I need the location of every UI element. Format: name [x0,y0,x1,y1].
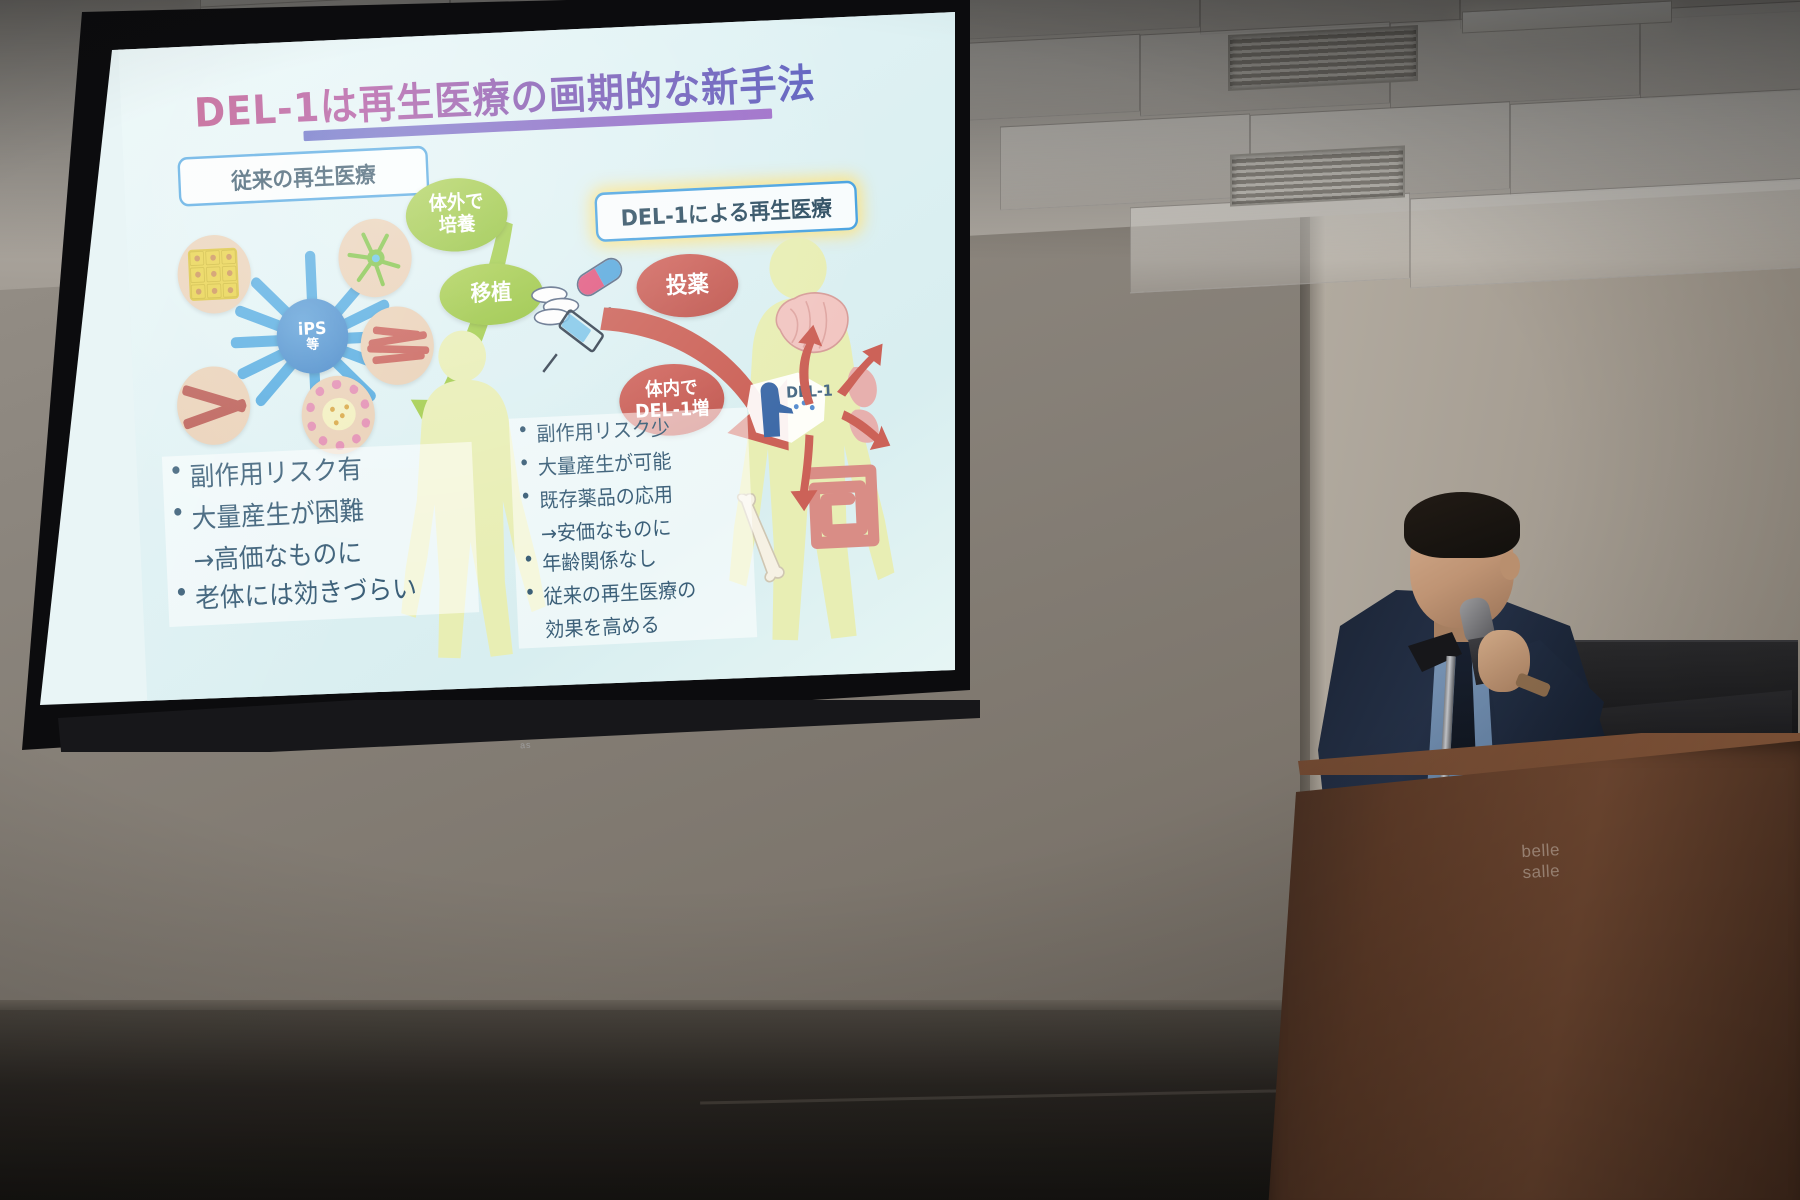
conference-room-photo: DEL-1は再生医療の画期的な新手法 従来の再生医療 DEL-1による再生医療 [0,0,1800,1200]
bullet-marker: • [515,547,543,572]
epithelial-cells-icon [176,233,253,315]
bullet-marker: • [167,577,195,609]
hair [1404,492,1520,558]
del1-distribution-arrows-icon [767,320,895,521]
bullet-text: 副作用リスク有 [189,447,363,494]
bullets-conventional: •副作用リスク有 •大量産生が困難 →高価なものに •老体には効きづらい [162,442,479,627]
ceiling-tile [1130,193,1410,294]
wooden-podium [1268,740,1800,1200]
ceiling-air-vent [1228,25,1418,91]
screen-surface: DEL-1は再生医療の画期的な新手法 従来の再生医療 DEL-1による再生医療 [0,0,980,770]
screen-brand-label: as [520,740,532,751]
label-culture-line1: 体外で [428,192,484,217]
bullet-text: 大量産生が可能 [537,444,672,480]
bullet-marker: • [512,484,540,509]
bullet-text: 従来の再生医療の [543,573,697,610]
bullet-marker: • [164,497,192,529]
bullet-marker: • [510,451,538,476]
bullet-text: 既存薬品の応用 [539,477,674,513]
ips-core-line2: 等 [306,338,319,353]
ceiling-tile [1000,113,1250,210]
venue-logo: belle salle [1521,835,1643,884]
bullet-text: 年齢関係なし [542,541,658,576]
ceiling-air-vent [1230,145,1405,206]
bullet-text: 大量産生が困難 [191,489,365,536]
presentation-slide: DEL-1は再生医療の画期的な新手法 従来の再生医療 DEL-1による再生医療 [118,6,980,713]
projection-screen: DEL-1は再生医療の画期的な新手法 従来の再生医療 DEL-1による再生医療 [0,0,1000,780]
bullet-text: 副作用リスク少 [536,411,671,447]
bullet-marker: • [509,417,537,442]
bullet-marker: • [162,455,190,487]
epithelial-grid [188,248,240,301]
ear [1500,552,1520,580]
section-header-conventional: 従来の再生医療 [177,145,429,206]
bullet-marker: • [516,580,544,605]
bullets-del1: •副作用リスク少 •大量産生が可能 •既存薬品の応用 →安価なものに •年齢関係… [509,407,757,648]
label-culture-line2: 培養 [429,214,485,239]
